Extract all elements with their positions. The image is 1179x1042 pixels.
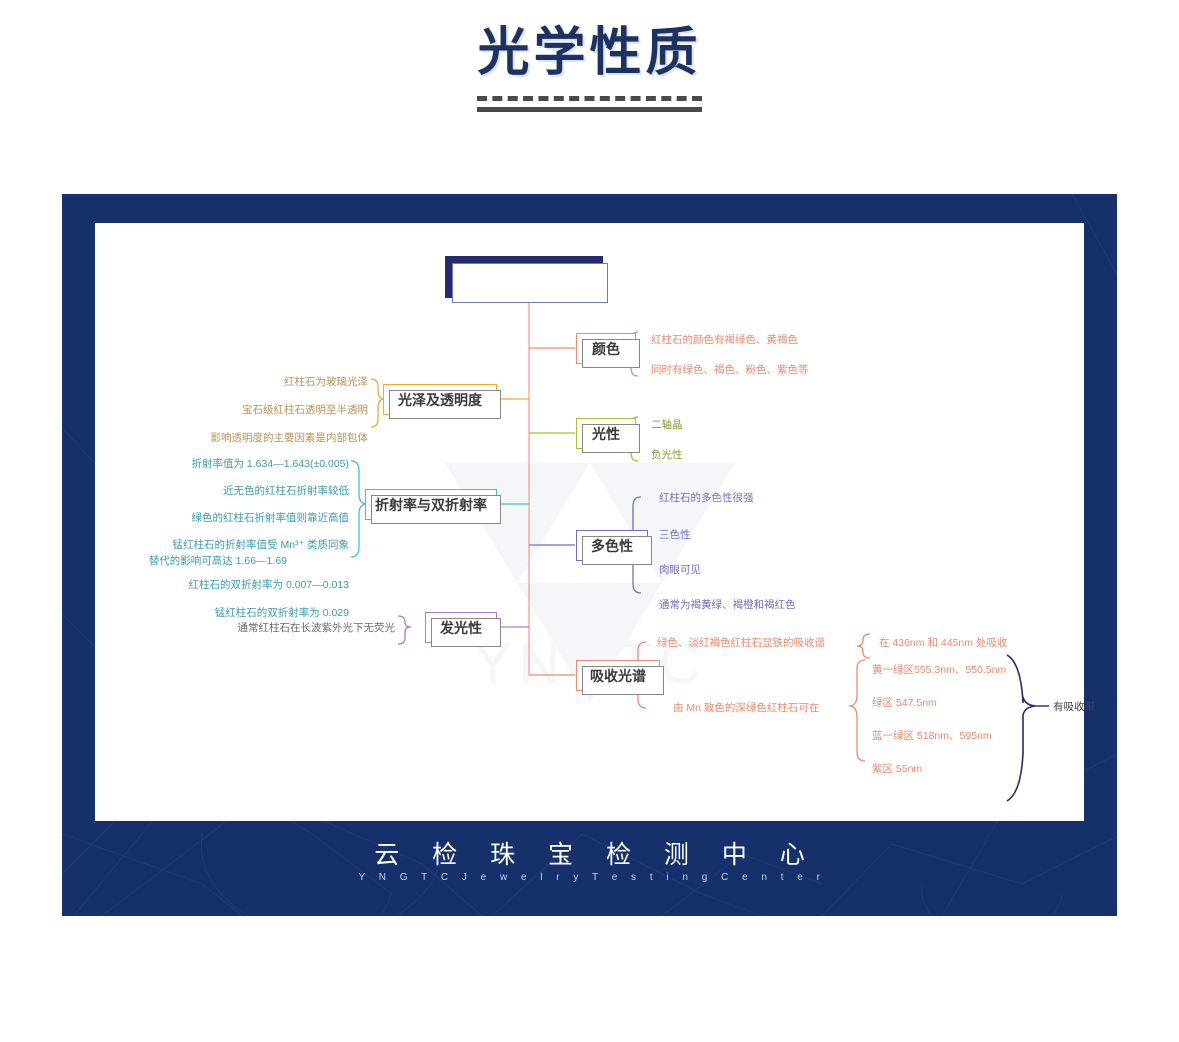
branch-node-luster-label: 光泽及透明度 [398, 390, 482, 410]
leaf-refraction-1: 折射率值为 1.634—1.643(±0.005) [192, 457, 350, 473]
footer-brand-en: Y N G T C J e w e l r y T e s t i n g C … [62, 872, 1117, 883]
branch-node-fluorescence-label: 发光性 [440, 618, 482, 638]
branch-node-optical-character[interactable]: 光性 [576, 418, 636, 449]
leaf-pleochroism-4: 通常为褐黄绿、褐橙和褐红色 [659, 598, 796, 614]
leaf-pleochroism-3: 肉眼可见 [659, 563, 701, 579]
leaf-absorption-band-note: 有吸收带 [1053, 700, 1095, 716]
branch-node-optical-character-label: 光性 [592, 424, 620, 444]
leaf-absorption-mn-detail-2: 绿区 547.5nm [872, 696, 937, 712]
leaf-optical-character-2: 负光性 [651, 448, 683, 464]
leaf-pleochroism-2: 三色性 [659, 528, 691, 544]
leaf-fluorescence-1: 通常红柱石在长波紫外光下无荧光 [238, 621, 396, 637]
footer-brand-cn: 云 检 珠 宝 检 测 中 心 [62, 835, 1117, 871]
branch-node-pleochroism[interactable]: 多色性 [576, 530, 648, 561]
leaf-color-2: 同时有绿色、褐色、粉色、紫色等 [651, 363, 809, 379]
leaf-luster-1: 红柱石为玻璃光泽 [284, 375, 368, 391]
branch-node-color-label: 颜色 [592, 339, 620, 359]
leaf-absorption-mn-detail-4: 紫区 55nm [872, 762, 922, 778]
page-title: 光学性质 [0, 24, 1179, 82]
leaf-refraction-2: 近无色的红柱石折射率较低 [223, 484, 349, 500]
root-node-label: 红柱石的光学性质 [460, 266, 588, 288]
title-dashed-rule [477, 96, 702, 101]
title-solid-rule [477, 107, 702, 112]
leaf-absorption-mn-detail-3: 蓝一绿区 518nm、595nm [872, 729, 992, 745]
branch-node-refraction-label: 折射率与双折射率 [375, 495, 487, 515]
leaf-pleochroism-1: 红柱石的多色性很强 [659, 491, 754, 507]
leaf-absorption-mn: 由 Mn 致色的深绿色红柱石可在 [673, 701, 819, 717]
branch-node-absorption-spectrum-label: 吸收光谱 [590, 666, 646, 686]
leaf-luster-2: 宝石级红柱石透明至半透明 [242, 403, 368, 419]
page-root: 光学性质 [0, 0, 1179, 1042]
leaf-absorption-iron: 绿色、淡红褐色红柱石显铁的吸收谱 [657, 636, 825, 652]
root-node[interactable]: 红柱石的光学性质 [445, 256, 603, 298]
leaf-refraction-3: 绿色的红柱石折射率值则靠近高值 [192, 511, 350, 527]
page-title-block: 光学性质 [0, 24, 1179, 112]
mindmap-frame: YNGTC [62, 194, 1117, 916]
leaf-refraction-4: 锰红柱石的折射率值受 Mn³⁺ 类质同象 [173, 538, 349, 554]
branch-node-pleochroism-label: 多色性 [591, 536, 633, 556]
branch-node-luster[interactable]: 光泽及透明度 [383, 384, 497, 415]
branch-node-absorption-spectrum[interactable]: 吸收光谱 [576, 660, 660, 691]
branch-node-color[interactable]: 颜色 [576, 333, 636, 364]
title-rules [477, 96, 702, 112]
leaf-absorption-iron-detail-1: 在 436nm 和 445nm 处吸收 [879, 636, 1007, 652]
leaf-luster-3: 影响透明度的主要因素是内部包体 [211, 431, 369, 447]
leaf-refraction-7: 锰红柱石的双折射率为 0.029 [215, 606, 349, 622]
leaf-optical-character-1: 二轴晶 [651, 418, 683, 434]
leaf-absorption-mn-detail-1: 黄一绿区555.3nm、550.5nm [872, 663, 1006, 679]
leaf-color-1: 红柱石的颜色有褐绿色、黄褐色 [651, 333, 798, 349]
branch-node-fluorescence[interactable]: 发光性 [425, 612, 497, 643]
mindmap-panel: YNGTC [95, 223, 1084, 821]
leaf-refraction-5: 替代的影响可高达 1.66—1.69 [149, 554, 287, 570]
leaf-refraction-6: 红柱石的双折射率为 0.007—0.013 [189, 578, 349, 594]
branch-node-refraction[interactable]: 折射率与双折射率 [365, 489, 497, 520]
